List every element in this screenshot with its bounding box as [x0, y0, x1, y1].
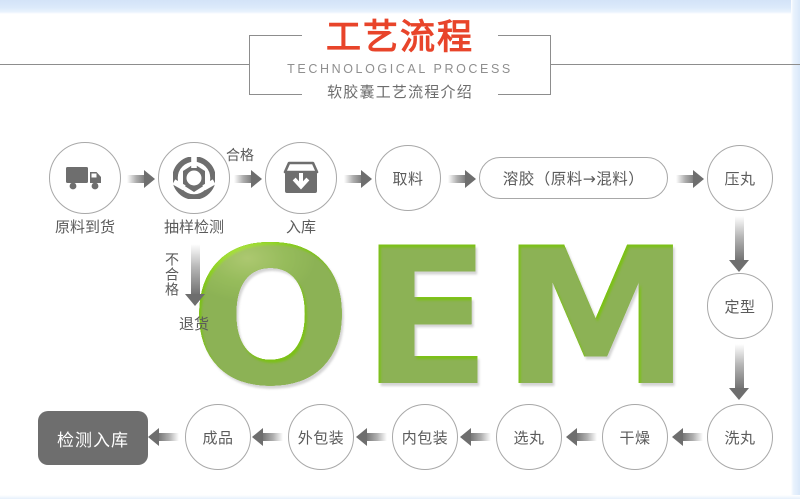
arrow-outer-packaging-to-finished	[252, 428, 283, 446]
node-pill-pressing[interactable]: 压丸	[707, 145, 773, 211]
arrow-warehousing-to-take-material	[344, 170, 372, 188]
bottom-edge-band	[0, 495, 800, 499]
sampling-valve-icon	[173, 157, 215, 199]
node-pill-washing[interactable]: 洗丸	[707, 404, 773, 470]
arrow-arrival-to-sampling	[127, 170, 155, 188]
header: 工艺流程 TECHNOLOGICAL PROCESS 软胶囊工艺流程介绍	[0, 18, 800, 114]
node-pill-selection-label: 选丸	[513, 427, 544, 448]
node-sampling-inspection[interactable]	[158, 142, 230, 214]
node-raw-material-arrival[interactable]	[49, 142, 121, 214]
node-drying-label: 干燥	[619, 427, 650, 448]
node-shaping-label: 定型	[724, 296, 755, 317]
header-rule-right	[550, 64, 800, 65]
arrow-washing-to-drying	[672, 428, 703, 446]
node-outer-packaging[interactable]: 外包装	[288, 404, 354, 470]
header-rule-left	[0, 64, 250, 65]
node-inner-packaging[interactable]: 内包装	[392, 404, 458, 470]
top-edge-band	[0, 0, 800, 14]
arrow-gel-to-pill-pressing	[676, 170, 704, 188]
arrow-take-material-to-gel	[448, 170, 476, 188]
arrow-sampling-to-warehousing	[234, 170, 262, 188]
node-inner-packaging-label: 内包装	[402, 427, 449, 448]
node-inspect-and-store-label: 检测入库	[57, 426, 129, 451]
node-finished-product[interactable]: 成品	[185, 404, 251, 470]
caption-warehousing: 入库	[226, 216, 376, 237]
branch-label-unqualified: 不合格	[161, 252, 181, 297]
page-subtitle-cn: 软胶囊工艺流程介绍	[248, 81, 552, 103]
node-take-material-label: 取料	[392, 168, 423, 189]
page-title: 工艺流程	[248, 18, 552, 58]
arrow-sampling-to-return	[185, 244, 206, 306]
node-gel-melting[interactable]: 溶胶（原料→混料）	[479, 157, 668, 199]
node-drying[interactable]: 干燥	[602, 404, 668, 470]
node-pill-washing-label: 洗丸	[724, 427, 755, 448]
node-gel-melting-label: 溶胶（原料→混料）	[503, 167, 645, 189]
node-pill-selection[interactable]: 选丸	[496, 404, 562, 470]
branch-label-qualified: 合格	[226, 145, 254, 165]
arrow-pressing-to-shaping	[729, 216, 750, 272]
node-shaping[interactable]: 定型	[707, 273, 773, 339]
node-warehousing[interactable]	[265, 142, 337, 214]
truck-icon	[65, 164, 105, 192]
arrow-inner-to-outer-packaging	[356, 428, 387, 446]
node-finished-product-label: 成品	[202, 427, 233, 448]
inbox-down-arrow-icon	[283, 161, 319, 195]
node-outer-packaging-label: 外包装	[298, 427, 345, 448]
oem-watermark: OEM	[185, 225, 705, 410]
node-return-goods: 退货	[134, 313, 254, 334]
node-pill-pressing-label: 压丸	[724, 168, 755, 189]
node-take-material[interactable]: 取料	[375, 145, 441, 211]
page-subtitle-en: TECHNOLOGICAL PROCESS	[248, 60, 552, 78]
arrow-finished-to-inspect-store	[148, 428, 179, 446]
arrow-drying-to-selection	[566, 428, 597, 446]
arrow-shaping-to-washing	[729, 344, 750, 400]
node-inspect-and-store[interactable]: 检测入库	[38, 411, 148, 465]
process-flow-infographic: 工艺流程 TECHNOLOGICAL PROCESS 软胶囊工艺流程介绍 OEM…	[0, 0, 800, 499]
arrow-selection-to-inner-packaging	[460, 428, 491, 446]
